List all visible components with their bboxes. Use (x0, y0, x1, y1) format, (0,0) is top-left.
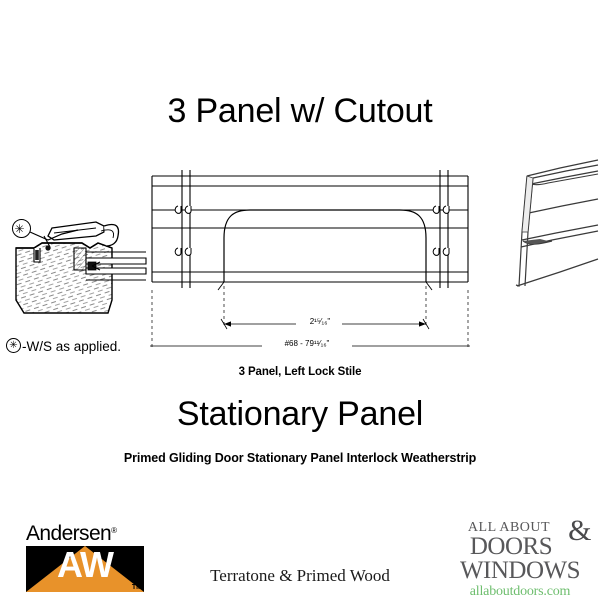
andersen-trademark-mark: TM (132, 584, 142, 591)
allaboutdoors-logo[interactable]: ALL ABOUT& DOORS WINDOWS allaboutdoors.c… (450, 520, 590, 600)
andersen-wordmark: Andersen® (26, 520, 144, 545)
aad-line1: ALL ABOUT& (450, 520, 590, 535)
aad-line1-text: ALL ABOUT (468, 520, 550, 535)
aad-line3: WINDOWS (450, 559, 590, 583)
page-subtitle: Primed Gliding Door Stationary Panel Int… (0, 451, 600, 465)
andersen-registered-mark: ® (111, 526, 116, 535)
page-title-bottom: Stationary Panel (0, 393, 600, 435)
andersen-aw-monogram: AW TM (26, 546, 144, 592)
aad-ampersand: & (568, 516, 592, 546)
diagram-page: 3 Panel w/ Cutout (0, 0, 600, 600)
andersen-logo[interactable]: Andersen® AW TM (26, 520, 144, 592)
bottom-caption: Terratone & Primed Wood (150, 566, 450, 586)
weatherstrip-profile-detail (0, 0, 600, 600)
andersen-aw-text: AW (26, 546, 144, 585)
aad-url[interactable]: allaboutdoors.com (450, 584, 590, 600)
andersen-wordmark-text: Andersen (26, 522, 111, 545)
